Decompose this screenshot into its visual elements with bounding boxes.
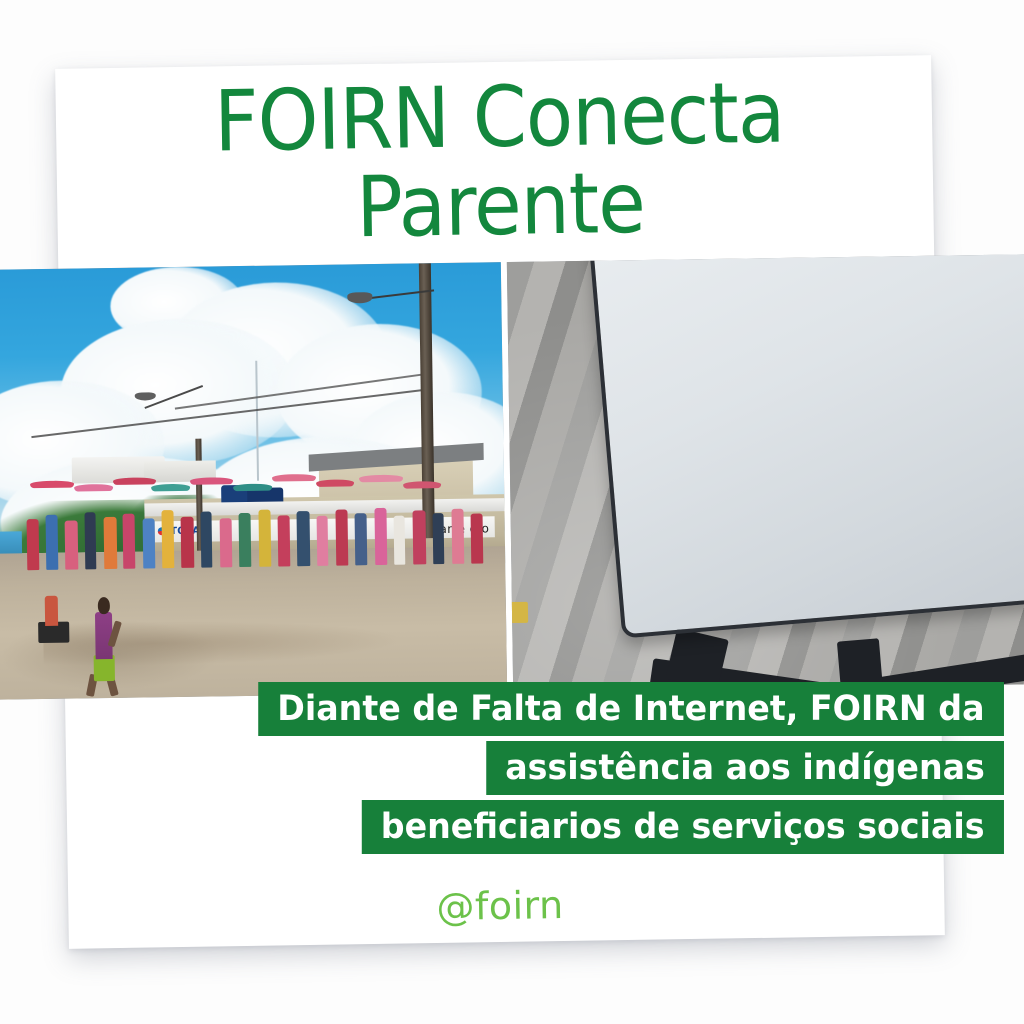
crowd-of-people xyxy=(21,469,506,571)
photo-strip: TOTAL A arte e o CAIXA xyxy=(0,254,1024,699)
motorcycle-rider xyxy=(45,596,58,626)
photo-table-top xyxy=(507,254,1024,692)
poster-root: FOIRN Conecta Parente xyxy=(0,0,1024,1024)
table-leg xyxy=(837,638,883,689)
walking-woman-head xyxy=(98,597,111,614)
table-top-surface xyxy=(587,254,1024,638)
yellow-object xyxy=(507,601,528,623)
photo-street-crowd: TOTAL A arte e o CAIXA xyxy=(0,262,507,700)
